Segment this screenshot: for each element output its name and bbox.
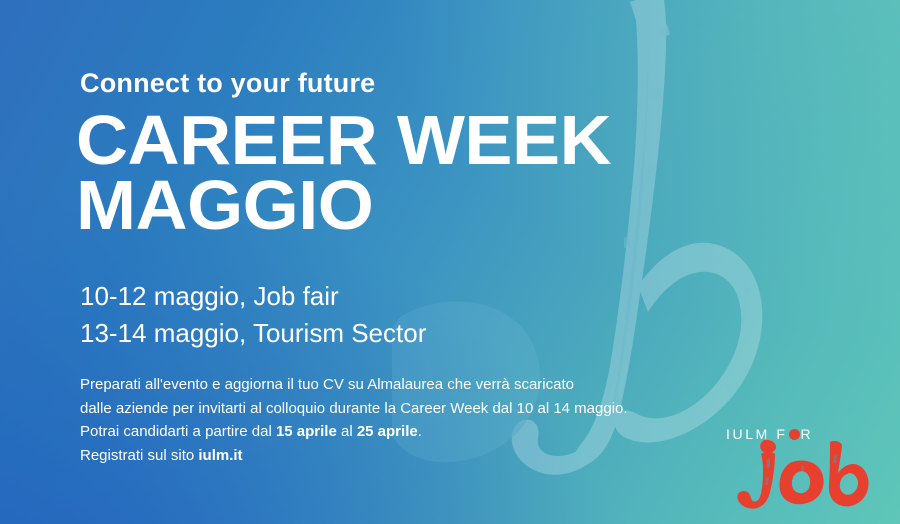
iulm-for-job-logo: IULM F R <box>712 418 872 510</box>
session-item-1: 10-12 maggio, Job fair <box>80 278 426 315</box>
body-copy: Preparati all'evento e aggiorna il tuo C… <box>80 373 628 468</box>
body-line-1: Preparati all'evento e aggiorna il tuo C… <box>80 373 628 397</box>
red-dot-icon <box>788 428 800 440</box>
body-line-3: Potrai candidarti a partire dal 15 april… <box>80 420 628 444</box>
career-week-banner: Connect to your future CAREER WEEK MAGGI… <box>0 0 900 524</box>
banner-content: Connect to your future CAREER WEEK MAGGI… <box>80 0 820 524</box>
body-line-2: dalle aziende per invitarti al colloquio… <box>80 397 628 421</box>
body-text: al <box>337 423 357 440</box>
body-text: Potrai candidarti a partire dal <box>80 423 276 440</box>
body-line-4: Registrati sul sito iulm.it <box>80 444 628 468</box>
headline-line-1: CAREER WEEK <box>76 108 611 173</box>
session-item-2: 13-14 maggio, Tourism Sector <box>80 315 426 352</box>
tagline: Connect to your future <box>80 68 375 99</box>
body-text: dalle aziende per invitarti al colloquio… <box>80 400 628 417</box>
body-text: Registrati sul sito <box>80 447 198 464</box>
body-text: . <box>418 423 422 440</box>
session-list: 10-12 maggio, Job fair 13-14 maggio, Tou… <box>80 278 426 352</box>
headline-line-2: MAGGIO <box>76 173 611 238</box>
body-text: Preparati all'evento e aggiorna il tuo C… <box>80 376 574 393</box>
body-emphasis: iulm.it <box>198 447 242 464</box>
body-emphasis: 25 aprile <box>357 423 418 440</box>
page-title: CAREER WEEK MAGGIO <box>76 108 611 238</box>
body-emphasis: 15 aprile <box>276 423 337 440</box>
job-script-logo-icon <box>730 440 872 510</box>
